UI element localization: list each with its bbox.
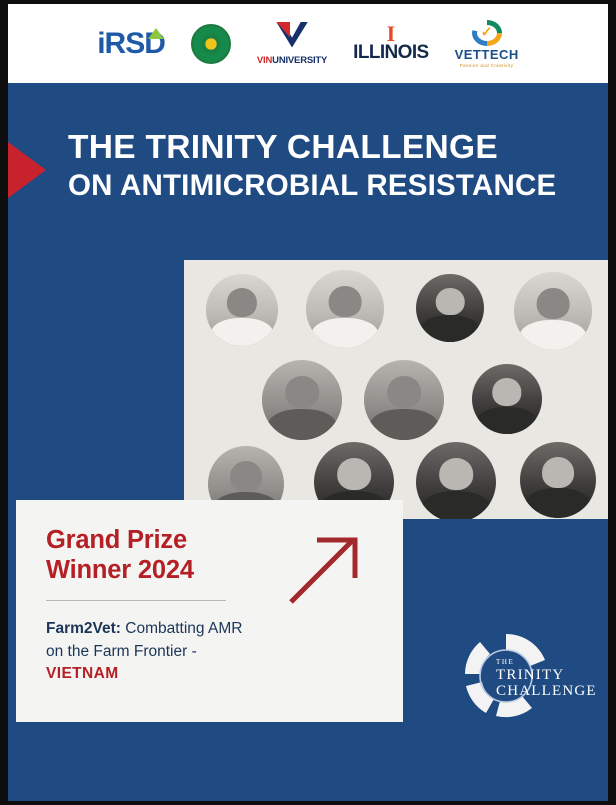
title-line-2: ON ANTIMICROBIAL RESISTANCE <box>68 170 588 202</box>
illinois-logo: I ILLINOIS <box>353 25 428 63</box>
vettech-circle-icon: ✓ <box>472 20 502 46</box>
project-description-line-1: Farm2Vet: Combatting AMR <box>46 617 377 640</box>
trinity-the: THE <box>496 658 597 667</box>
illinois-wordmark: ILLINOIS <box>353 43 428 63</box>
illinois-block-i-icon: I <box>387 25 396 43</box>
vettech-check-icon: ✓ <box>481 23 493 40</box>
portrait-7 <box>472 364 542 434</box>
red-arrow-marker-icon <box>8 142 46 198</box>
irsd-logo: iRSD <box>97 29 165 59</box>
portrait-3 <box>416 274 484 342</box>
vinuniversity-logo: VINUNIVERSITY <box>257 22 327 66</box>
portrait-4 <box>514 272 592 350</box>
project-description-line-2: on the Farm Frontier - <box>46 640 377 663</box>
vettech-logo: ✓ VETTECH Passion and Creativity <box>455 20 519 68</box>
trinity-wordmark: THE TRINITY CHALLENGE <box>496 658 597 699</box>
trinity-line-1: TRINITY <box>496 667 597 683</box>
vinuniversity-v-icon <box>272 22 312 52</box>
vnua-seal-icon <box>191 24 231 64</box>
title-line-1: THE TRINITY CHALLENGE <box>68 130 588 166</box>
vnua-seal-logo <box>191 24 231 64</box>
arrow-up-right-icon <box>287 532 361 606</box>
portrait-6 <box>364 360 444 440</box>
poster-title: THE TRINITY CHALLENGE ON ANTIMICROBIAL R… <box>68 130 588 201</box>
award-card: Grand Prize Winner 2024 Farm2Vet: Combat… <box>16 500 403 722</box>
trinity-line-2: CHALLENGE <box>496 683 597 699</box>
vin-prefix: VIN <box>257 55 272 66</box>
portrait-2 <box>306 270 384 348</box>
vettech-wordmark: VETTECH <box>455 47 519 62</box>
vinuniversity-wordmark: VINUNIVERSITY <box>257 55 327 66</box>
vettech-tagline: Passion and Creativity <box>460 63 514 68</box>
portrait-10 <box>416 442 496 519</box>
team-portrait-grid <box>184 260 608 519</box>
partner-logo-bar: iRSD VINUNIVERSITY I ILLINOIS ✓ VETTECH <box>8 4 608 83</box>
poster-canvas: iRSD VINUNIVERSITY I ILLINOIS ✓ VETTECH <box>8 4 608 801</box>
portrait-5 <box>262 360 342 440</box>
irsd-wordmark: iRSD <box>97 29 165 59</box>
project-name: Farm2Vet: <box>46 620 121 637</box>
country-label: VIETNAM <box>46 665 377 683</box>
project-description: Farm2Vet: Combatting AMR on the Farm Fro… <box>46 617 377 664</box>
portrait-11 <box>520 442 596 518</box>
vin-suffix: UNIVERSITY <box>272 55 327 66</box>
project-desc-rest: Combatting AMR <box>121 620 242 637</box>
portrait-1 <box>206 274 278 346</box>
irsd-triangle-icon <box>148 28 164 39</box>
trinity-challenge-logo: THE TRINITY CHALLENGE <box>460 634 588 726</box>
card-divider <box>46 600 226 601</box>
